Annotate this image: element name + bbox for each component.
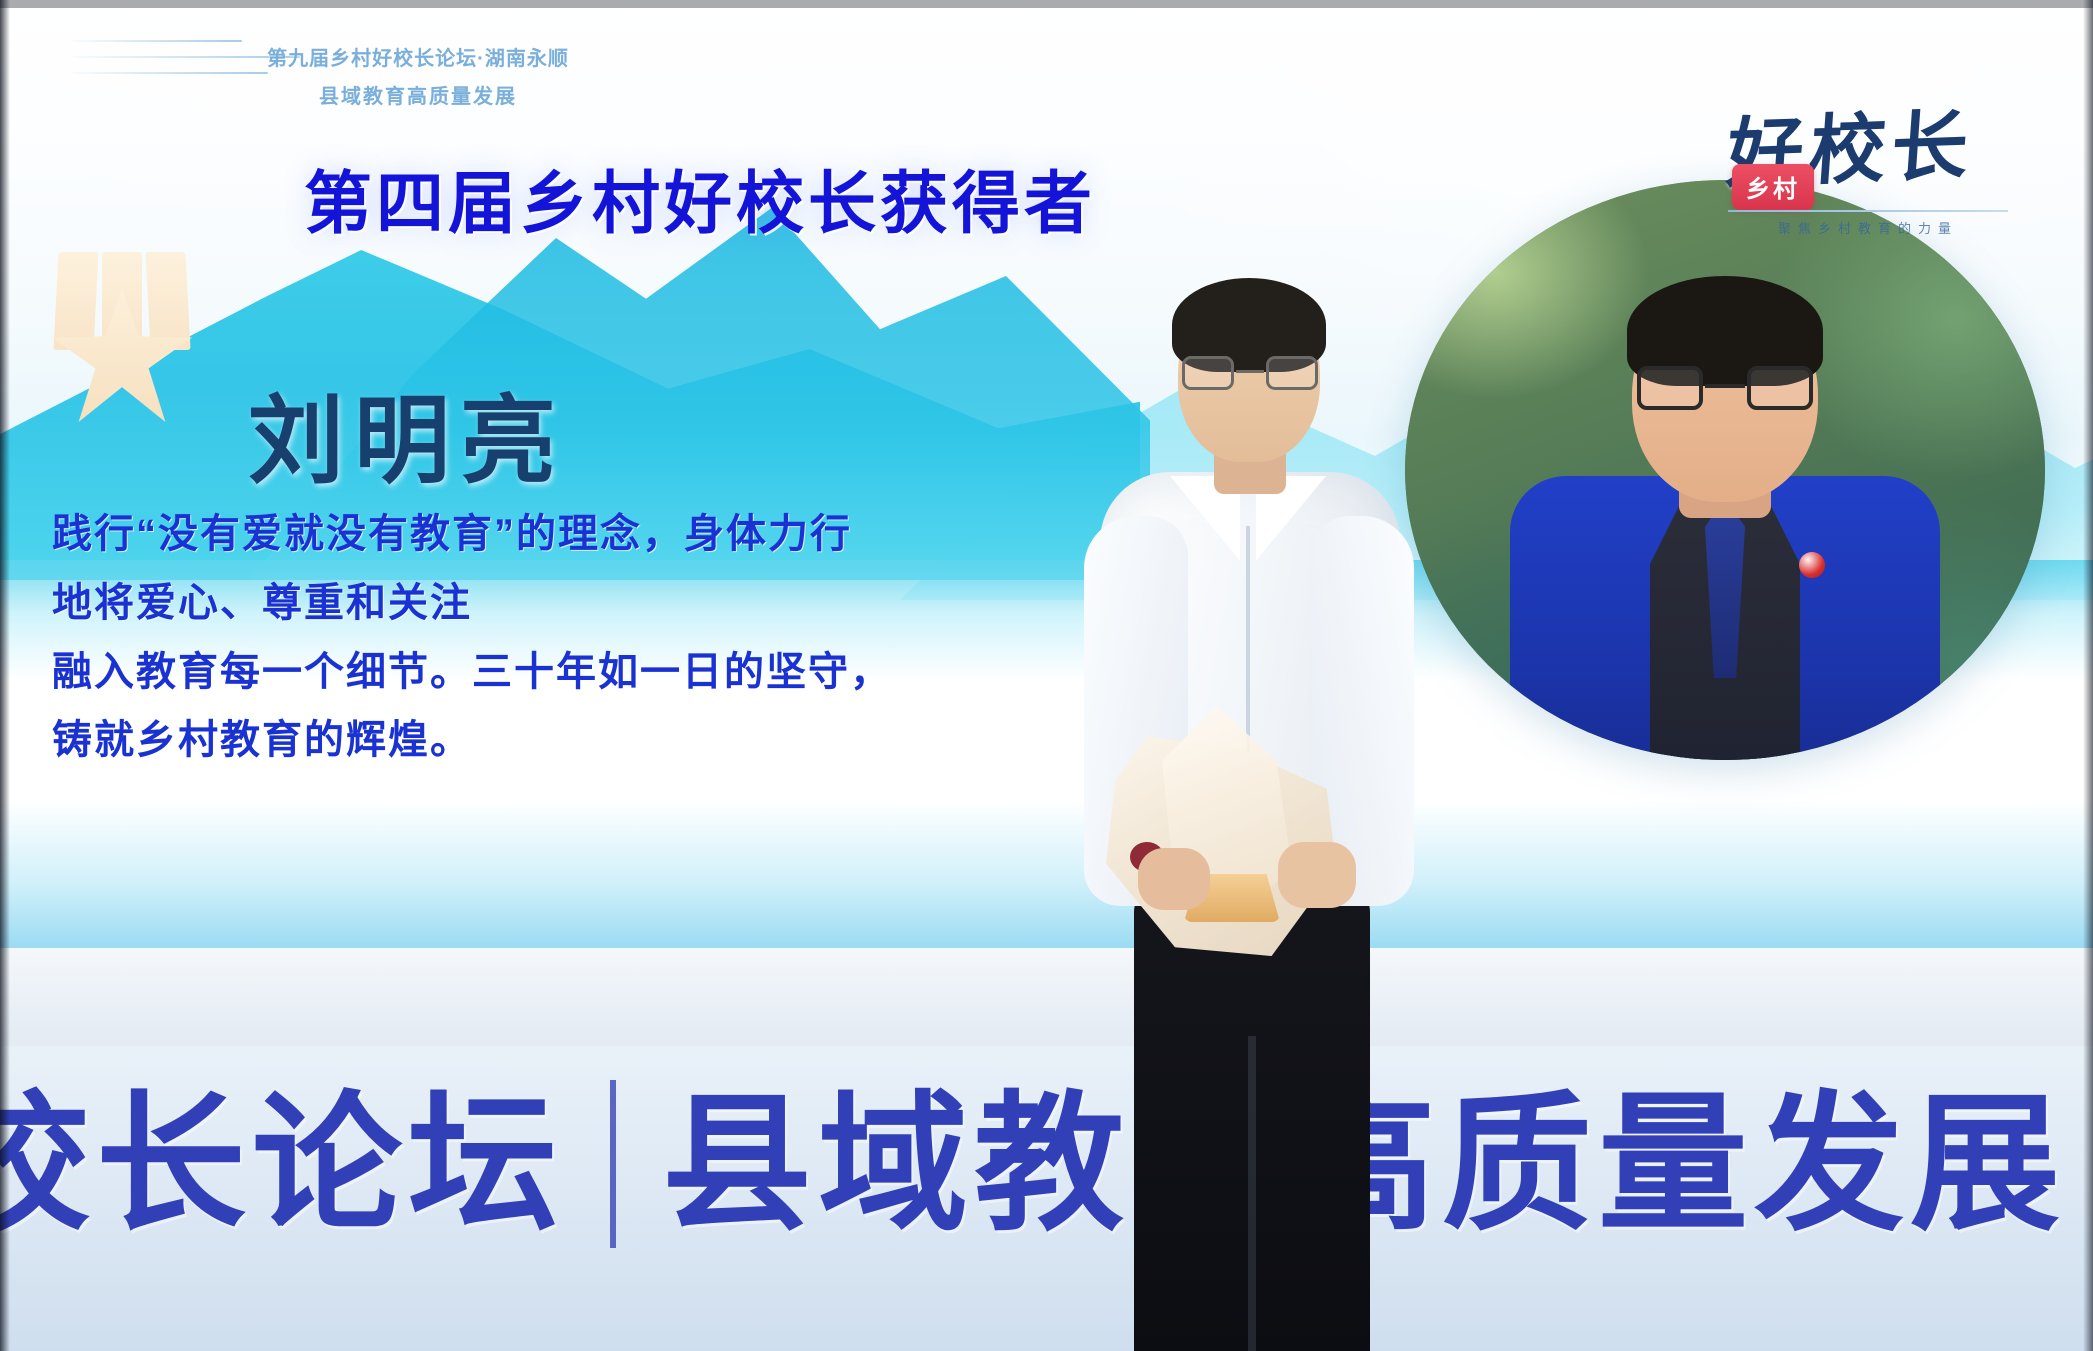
forum-caption-line-1: 第九届乡村好校长论坛·湖南永顺	[188, 40, 648, 78]
person-left-hand	[1138, 848, 1210, 910]
logo-badge-label: 乡村	[1732, 164, 1814, 210]
portrait-glasses-icon	[1637, 366, 1813, 412]
forum-caption: 第九届乡村好校长论坛·湖南永顺 县域教育高质量发展	[188, 40, 648, 116]
award-recipient-on-stage	[1060, 286, 1490, 1351]
honoree-name: 刘明亮	[248, 363, 566, 502]
logo-divider-rule	[1728, 210, 2008, 212]
banner-left-text: 校长论坛	[0, 1089, 564, 1239]
led-screen-slide: 第九届乡村好校长论坛·湖南永顺 县域教育高质量发展 第四届乡村好校长获得者 刘明…	[0, 0, 2093, 948]
slide-title: 第四届乡村好校长获得者	[0, 148, 1400, 247]
frame-edge-top	[0, 0, 2093, 8]
stage-bottom-banner: 校长论坛 县域教育高质量发展	[0, 1046, 2093, 1351]
haoxiaozhang-logo: 好校长 乡村 聚焦乡村教育的力量	[1720, 88, 2020, 248]
star-medal-icon	[48, 252, 196, 412]
logo-tagline: 聚焦乡村教育的力量	[1728, 218, 2008, 237]
person-right-hand	[1278, 842, 1356, 908]
flower-bouquet	[1096, 706, 1366, 966]
water-band-lower	[0, 800, 2093, 948]
frame-edge-left	[0, 0, 10, 1351]
vertical-divider-icon	[610, 1080, 616, 1248]
person-glasses-icon	[1182, 356, 1318, 392]
frame-edge-right	[2083, 0, 2093, 1351]
stage-scene: 第九届乡村好校长论坛·湖南永顺 县域教育高质量发展 第四届乡村好校长获得者 刘明…	[0, 0, 2093, 1351]
forum-caption-line-2: 县域教育高质量发展	[188, 78, 648, 116]
honoree-portrait-photo	[1405, 180, 2045, 760]
portrait-lapel-badge-icon	[1799, 552, 1825, 578]
